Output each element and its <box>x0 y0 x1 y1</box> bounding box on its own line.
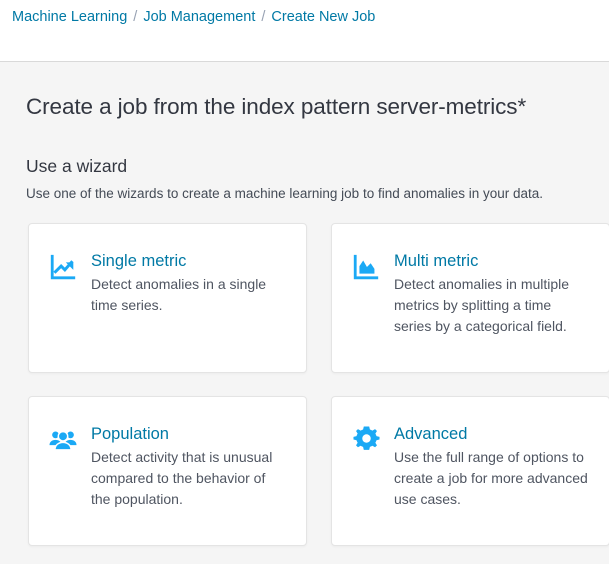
card-text: Single metric Detect anomalies in a sing… <box>91 250 288 316</box>
card-text: Advanced Use the full range of options t… <box>394 423 591 510</box>
card-title[interactable]: Advanced <box>394 424 591 445</box>
card-title[interactable]: Single metric <box>91 251 288 272</box>
section-title-use-a-wizard: Use a wizard <box>26 154 593 178</box>
breadcrumb-bar: Machine Learning / Job Management / Crea… <box>0 0 609 62</box>
card-description: Detect activity that is unusual compared… <box>91 447 288 510</box>
users-group-icon <box>47 425 79 457</box>
page-body: Create a job from the index pattern serv… <box>0 62 609 546</box>
breadcrumb-separator: / <box>261 7 265 27</box>
breadcrumb: Machine Learning / Job Management / Crea… <box>12 7 375 27</box>
area-chart-icon <box>350 252 382 284</box>
card-title[interactable]: Multi metric <box>394 251 591 272</box>
wizard-card-multi-metric[interactable]: Multi metric Detect anomalies in multipl… <box>331 223 609 373</box>
card-text: Multi metric Detect anomalies in multipl… <box>394 250 591 337</box>
wizard-card-grid: Single metric Detect anomalies in a sing… <box>28 223 593 546</box>
line-chart-arrow-icon <box>47 252 79 284</box>
wizard-card-population[interactable]: Population Detect activity that is unusu… <box>28 396 307 546</box>
page-title: Create a job from the index pattern serv… <box>26 92 593 122</box>
section-subtitle: Use one of the wizards to create a machi… <box>26 184 593 204</box>
breadcrumb-item-job-management[interactable]: Job Management <box>143 7 255 27</box>
card-text: Population Detect activity that is unusu… <box>91 423 288 510</box>
create-job-page: Machine Learning / Job Management / Crea… <box>0 0 609 564</box>
breadcrumb-separator: / <box>133 7 137 27</box>
breadcrumb-item-create-new-job[interactable]: Create New Job <box>271 7 375 27</box>
card-description: Detect anomalies in a single time series… <box>91 274 288 316</box>
wizard-card-single-metric[interactable]: Single metric Detect anomalies in a sing… <box>28 223 307 373</box>
card-description: Use the full range of options to create … <box>394 447 591 510</box>
breadcrumb-item-machine-learning[interactable]: Machine Learning <box>12 7 127 27</box>
card-title[interactable]: Population <box>91 424 288 445</box>
gear-icon <box>350 425 382 457</box>
content-panel: Create a job from the index pattern serv… <box>12 62 597 546</box>
card-description: Detect anomalies in multiple metrics by … <box>394 274 591 337</box>
wizard-card-advanced[interactable]: Advanced Use the full range of options t… <box>331 396 609 546</box>
